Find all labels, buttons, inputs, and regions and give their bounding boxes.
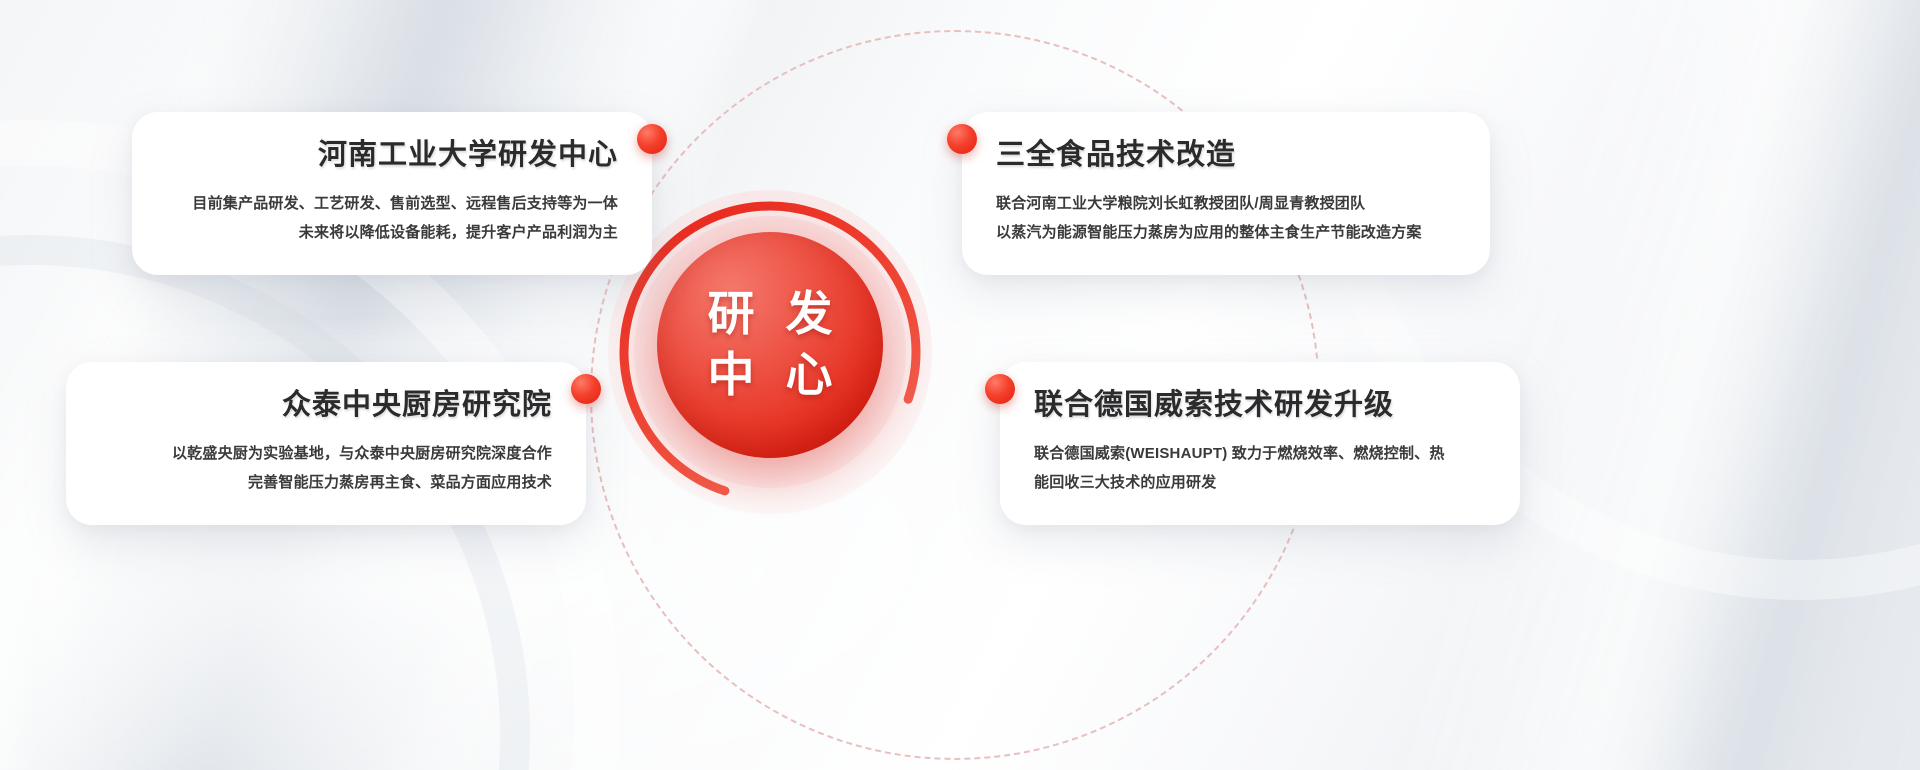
card-line: 联合德国威索(WEISHAUPT) 致力于燃烧效率、燃烧控制、热 (1034, 439, 1486, 468)
emblem-line-1: 研 发 (698, 287, 841, 342)
card-weishaupt-joint-rnd-upgrade[interactable]: 联合德国威索技术研发升级 联合德国威索(WEISHAUPT) 致力于燃烧效率、燃… (1000, 362, 1520, 525)
card-body: 联合河南工业大学粮院刘长虹教授团队/周显青教授团队 以蒸汽为能源智能压力蒸房为应… (996, 189, 1456, 248)
card-line: 能回收三大技术的应用研发 (1034, 468, 1486, 497)
card-zhongtai-central-kitchen-institute[interactable]: 众泰中央厨房研究院 以乾盛央厨为实验基地，与众泰中央厨房研究院深度合作 完善智能… (66, 362, 586, 525)
card-sanquan-food-tech-upgrade[interactable]: 三全食品技术改造 联合河南工业大学粮院刘长虹教授团队/周显青教授团队 以蒸汽为能… (962, 112, 1490, 275)
background-shade-band-right (1517, 0, 1920, 770)
emblem-line-2: 中 心 (698, 348, 841, 403)
card-line: 未来将以降低设备能耗，提升客户产品利润为主 (166, 218, 618, 247)
card-body: 目前集产品研发、工艺研发、售前选型、远程售后支持等为一体 未来将以降低设备能耗，… (166, 189, 618, 248)
card-marker-dot-icon (947, 124, 977, 154)
card-marker-dot-icon (985, 374, 1015, 404)
infographic-stage: 研 发 中 心 河南工业大学研发中心 目前集产品研发、工艺研发、售前选型、远程售… (0, 0, 1920, 770)
card-line: 联合河南工业大学粮院刘长虹教授团队/周显青教授团队 (996, 189, 1456, 218)
card-title: 三全食品技术改造 (996, 138, 1456, 173)
card-title: 河南工业大学研发中心 (166, 138, 618, 173)
card-title: 众泰中央厨房研究院 (100, 388, 552, 423)
card-line: 以乾盛央厨为实验基地，与众泰中央厨房研究院深度合作 (100, 439, 552, 468)
card-henan-university-rnd-center[interactable]: 河南工业大学研发中心 目前集产品研发、工艺研发、售前选型、远程售后支持等为一体 … (132, 112, 652, 275)
card-body: 以乾盛央厨为实验基地，与众泰中央厨房研究院深度合作 完善智能压力蒸房再主食、菜品… (100, 439, 552, 498)
card-marker-dot-icon (637, 124, 667, 154)
card-body: 联合德国威索(WEISHAUPT) 致力于燃烧效率、燃烧控制、热 能回收三大技术… (1034, 439, 1486, 498)
card-line: 完善智能压力蒸房再主食、菜品方面应用技术 (100, 468, 552, 497)
emblem-core: 研 发 中 心 (657, 232, 883, 458)
card-line: 目前集产品研发、工艺研发、售前选型、远程售后支持等为一体 (166, 189, 618, 218)
card-title: 联合德国威索技术研发升级 (1034, 388, 1486, 423)
card-marker-dot-icon (571, 374, 601, 404)
card-line: 以蒸汽为能源智能压力蒸房为应用的整体主食生产节能改造方案 (996, 218, 1456, 247)
